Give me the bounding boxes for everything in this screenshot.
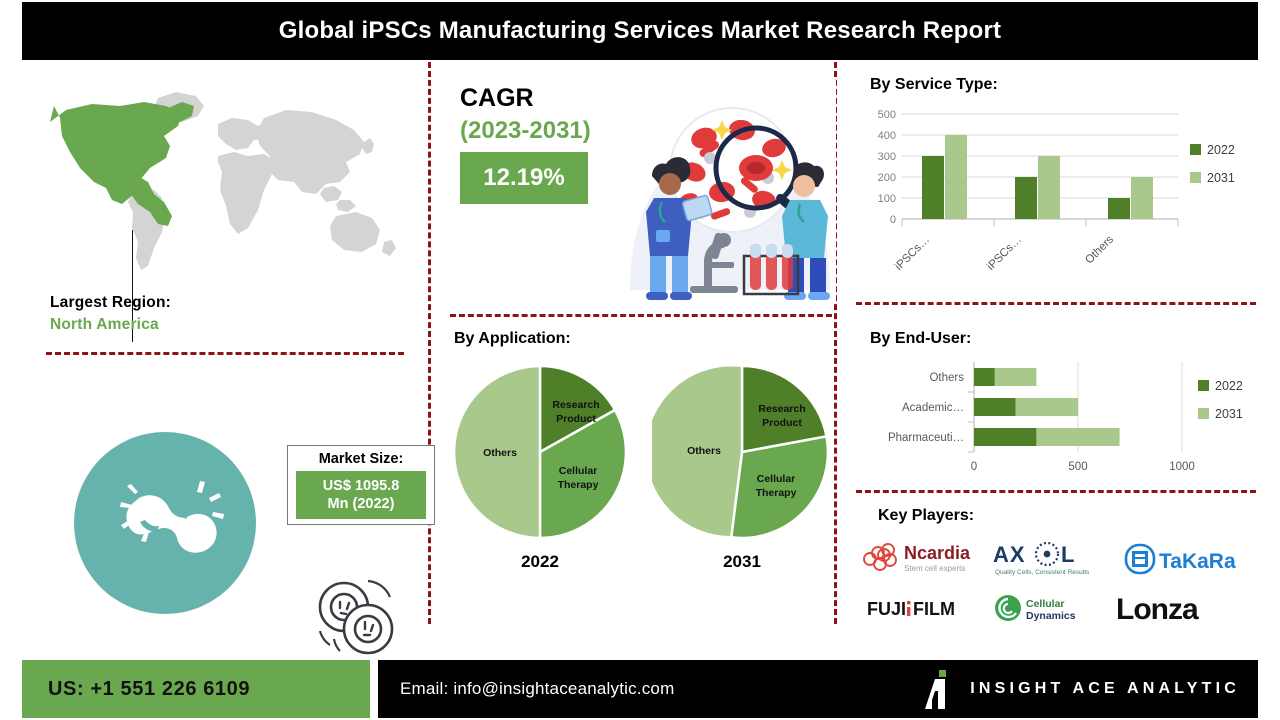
- key-players-grid: Ncardia Stem cell experts AX L Quality C…: [860, 534, 1256, 634]
- logo-ncardia: Ncardia Stem cell experts: [860, 534, 988, 584]
- bars-group: [974, 368, 1120, 446]
- pie-chart-2022: Research Product Cellular Therapy Others…: [450, 362, 630, 572]
- lab-scientists-illustration-icon: [624, 80, 836, 302]
- pie-2022-label-others: Others: [483, 447, 517, 459]
- divider-horizontal-center: [450, 314, 832, 317]
- brand-name: INSIGHT ACE ANALYTIC: [970, 680, 1240, 698]
- svg-text:300: 300: [878, 151, 896, 163]
- service-type-section-title: By Service Type:: [870, 76, 998, 94]
- application-section-title: By Application:: [454, 330, 571, 348]
- eu-cat-others: Others: [929, 372, 964, 384]
- header-bar: Global iPSCs Manufacturing Services Mark…: [22, 2, 1258, 60]
- service-type-bar-chart: 500 400 300 200 100 0: [860, 100, 1256, 282]
- logo-axol: AX L Quality Cells, Consistent Results: [988, 534, 1114, 584]
- logo-cellular-dynamics: Cellular Dynamics: [988, 584, 1114, 632]
- market-size-value: US$ 1095.8 Mn (2022): [296, 471, 426, 519]
- divider-horizontal-right-2: [856, 490, 1256, 493]
- logo-takara: TaKaRa: [1114, 534, 1256, 584]
- footer-phone: US: +1 551 226 6109: [22, 660, 370, 718]
- svg-text:Therapy: Therapy: [756, 487, 797, 499]
- svg-text:0: 0: [971, 461, 977, 473]
- svg-text:1000: 1000: [1169, 461, 1195, 473]
- svg-text:100: 100: [878, 193, 896, 205]
- cagr-value-badge: 12.19%: [460, 152, 588, 204]
- pie-chart-2031: Research Product Cellular Therapy Others…: [652, 362, 832, 572]
- svg-text:2031: 2031: [1215, 407, 1243, 421]
- divider-vertical-left: [428, 62, 431, 624]
- svc-cat-2: Others: [1083, 233, 1116, 266]
- svg-text:Ncardia: Ncardia: [904, 543, 971, 563]
- svc-cat-1: iPSCs…: [985, 234, 1024, 273]
- svg-text:AX: AX: [993, 542, 1026, 567]
- logo-fujifilm: FUJI FILM: [860, 584, 988, 632]
- pie-2031-year: 2031: [652, 552, 832, 572]
- svg-text:FILM: FILM: [913, 599, 955, 619]
- svg-text:0: 0: [890, 214, 896, 226]
- footer-email: Email: info@insightaceanalytic.com: [378, 679, 674, 699]
- svg-text:500: 500: [878, 109, 896, 121]
- svg-text:Product: Product: [556, 413, 596, 425]
- dividing-cell-icon: [74, 432, 256, 614]
- pie-2031-label-cellular-therapy: Cellular: [757, 473, 796, 485]
- svg-text:200: 200: [878, 172, 896, 184]
- cagr-years: (2023-2031): [460, 117, 591, 145]
- pie-2031-label-others: Others: [687, 445, 721, 457]
- market-size-line1: US$ 1095.8: [323, 477, 400, 495]
- svg-text:FUJI: FUJI: [867, 599, 906, 619]
- pie-2022-year: 2022: [450, 552, 630, 572]
- svg-text:400: 400: [878, 130, 896, 142]
- svg-text:TaKaRa: TaKaRa: [1159, 550, 1236, 573]
- brand-logo: INSIGHT ACE ANALYTIC: [922, 660, 1240, 718]
- svg-text:Therapy: Therapy: [558, 479, 599, 491]
- application-pie-charts: Research Product Cellular Therapy Others…: [440, 362, 832, 627]
- divider-horizontal-left: [46, 352, 404, 355]
- divider-horizontal-right-1: [856, 302, 1256, 305]
- svg-text:2031: 2031: [1207, 171, 1235, 185]
- market-size-line2: Mn (2022): [328, 495, 395, 513]
- infographic-page: Global iPSCs Manufacturing Services Mark…: [0, 0, 1280, 720]
- largest-region-value: North America: [50, 316, 390, 334]
- market-size-box: Market Size: US$ 1095.8 Mn (2022): [287, 445, 435, 525]
- pie-2022-label-research-product: Research: [552, 399, 599, 411]
- svg-text:2022: 2022: [1215, 379, 1243, 393]
- logo-lonza: Lonza: [1114, 584, 1256, 632]
- svg-text:Quality Cells, Consistent Resu: Quality Cells, Consistent Results: [995, 569, 1090, 576]
- body-frame: Largest Region: North America: [22, 62, 1258, 642]
- left-panel: Largest Region: North America: [22, 62, 428, 642]
- svg-text:L: L: [1061, 542, 1074, 567]
- right-panel: By Service Type: 500 400: [838, 62, 1258, 642]
- center-panel: CAGR (2023-2031) 12.19%: [432, 62, 832, 642]
- svc-cat-0: iPSCs…: [893, 234, 932, 273]
- svg-text:500: 500: [1068, 461, 1087, 473]
- eu-legend: 2022 2031: [1198, 379, 1243, 421]
- page-title: Global iPSCs Manufacturing Services Mark…: [279, 17, 1002, 45]
- pie-2031-label-research-product: Research: [758, 403, 805, 415]
- svg-text:Dynamics: Dynamics: [1026, 610, 1076, 622]
- market-size-label: Market Size:: [319, 451, 404, 467]
- svg-text:Stem cell experts: Stem cell experts: [904, 564, 965, 573]
- eu-cat-academic: Academic…: [902, 402, 964, 414]
- svg-text:Lonza: Lonza: [1116, 593, 1199, 625]
- two-cells-outline-icon: [310, 577, 402, 663]
- eu-cat-pharma: Pharmaceuti…: [888, 432, 964, 444]
- largest-region-block: Largest Region: North America: [50, 294, 390, 334]
- svg-text:Product: Product: [762, 417, 802, 429]
- svc-legend: 2022 2031: [1190, 143, 1235, 185]
- pie-2022-label-cellular-therapy: Cellular: [559, 465, 598, 477]
- insight-ace-a-mark-icon: [922, 669, 956, 709]
- cagr-label: CAGR: [460, 84, 534, 113]
- world-map-icon: [40, 82, 400, 282]
- footer-contact-bar: Email: info@insightaceanalytic.com INSIG…: [378, 660, 1258, 718]
- end-user-bar-chart: Others Academic… Pharmaceuti… 0 500 1000…: [846, 354, 1256, 494]
- key-players-section-title: Key Players:: [878, 507, 974, 525]
- svg-text:Cellular: Cellular: [1026, 598, 1065, 610]
- end-user-section-title: By End-User:: [870, 330, 971, 348]
- largest-region-label: Largest Region:: [50, 294, 390, 312]
- footer-bar: US: +1 551 226 6109 Email: info@insighta…: [0, 658, 1280, 720]
- svg-text:2022: 2022: [1207, 143, 1235, 157]
